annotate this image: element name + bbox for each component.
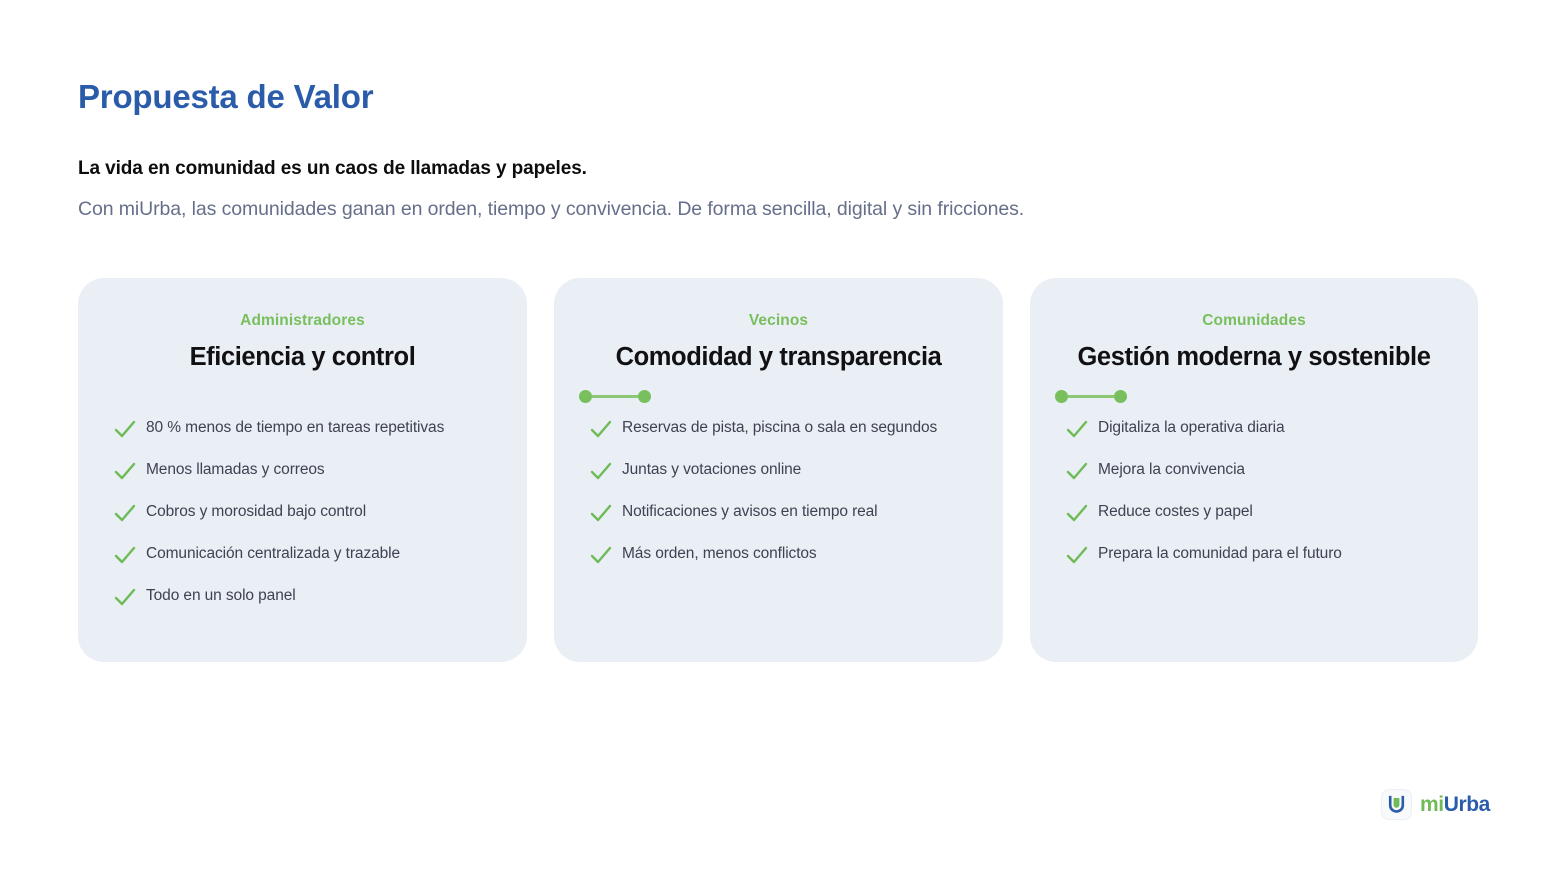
list-item-label: Comunicación centralizada y trazable: [146, 544, 400, 564]
check-icon: [114, 545, 136, 565]
card-eyebrow: Comunidades: [1054, 310, 1454, 332]
page-title: Propuesta de Valor: [78, 76, 373, 118]
logo-text-urba: Urba: [1444, 793, 1490, 816]
check-icon: [114, 503, 136, 523]
card-comunidades: Comunidades Gestión moderna y sostenible…: [1030, 278, 1478, 662]
list-item-label: Cobros y morosidad bajo control: [146, 502, 366, 522]
check-icon: [590, 419, 612, 439]
card-benefit-list: Reservas de pista, piscina o sala en seg…: [578, 418, 979, 564]
miurba-wordmark: miUrba: [1420, 793, 1490, 817]
list-item: Digitaliza la operativa diaria: [1054, 418, 1454, 438]
connector-dot-right: [638, 390, 651, 403]
list-item: Reservas de pista, piscina o sala en seg…: [578, 418, 979, 438]
card-benefit-list: Digitaliza la operativa diaria Mejora la…: [1054, 418, 1454, 564]
check-icon: [590, 545, 612, 565]
connector-dot-right: [1114, 390, 1127, 403]
list-item: Todo en un solo panel: [102, 586, 503, 606]
list-item: Comunicación centralizada y trazable: [102, 544, 503, 564]
check-icon: [114, 587, 136, 607]
list-item-label: Mejora la convivencia: [1098, 460, 1245, 480]
miurba-logo: miUrba: [1381, 789, 1490, 820]
check-icon: [114, 419, 136, 439]
list-item-label: Digitaliza la operativa diaria: [1098, 418, 1285, 438]
check-icon: [1066, 419, 1088, 439]
list-item: Notificaciones y avisos en tiempo real: [578, 502, 979, 522]
connector-line: [1068, 395, 1114, 398]
list-item-label: Prepara la comunidad para el futuro: [1098, 544, 1342, 564]
card-benefit-list: 80 % menos de tiempo en tareas repetitiv…: [102, 418, 503, 606]
check-icon: [590, 503, 612, 523]
list-item-label: Reservas de pista, piscina o sala en seg…: [622, 418, 937, 438]
list-item: Mejora la convivencia: [1054, 460, 1454, 480]
check-icon: [1066, 545, 1088, 565]
connector-line: [592, 395, 638, 398]
miurba-u-icon: [1381, 789, 1412, 820]
connector-vecinos-comunidades: [1055, 390, 1127, 403]
lead-headline: La vida en comunidad es un caos de llama…: [78, 155, 587, 183]
card-title: Eficiencia y control: [102, 340, 503, 374]
check-icon: [1066, 461, 1088, 481]
list-item: Prepara la comunidad para el futuro: [1054, 544, 1454, 564]
connector-dot-left: [1055, 390, 1068, 403]
list-item: Juntas y votaciones online: [578, 460, 979, 480]
list-item-label: Juntas y votaciones online: [622, 460, 801, 480]
card-eyebrow: Vecinos: [578, 310, 979, 332]
card-administradores: Administradores Eficiencia y control 80 …: [78, 278, 527, 662]
list-item: Reduce costes y papel: [1054, 502, 1454, 522]
list-item-label: Reduce costes y papel: [1098, 502, 1253, 522]
check-icon: [590, 461, 612, 481]
list-item-label: Todo en un solo panel: [146, 586, 296, 606]
list-item: Cobros y morosidad bajo control: [102, 502, 503, 522]
connector-dot-left: [579, 390, 592, 403]
card-title: Comodidad y transparencia: [578, 340, 979, 374]
card-vecinos: Vecinos Comodidad y transparencia Reserv…: [554, 278, 1003, 662]
check-icon: [1066, 503, 1088, 523]
list-item-label: Notificaciones y avisos en tiempo real: [622, 502, 878, 522]
card-eyebrow: Administradores: [102, 310, 503, 332]
logo-text-mi: mi: [1420, 793, 1444, 816]
list-item-label: 80 % menos de tiempo en tareas repetitiv…: [146, 418, 444, 438]
list-item: Menos llamadas y correos: [102, 460, 503, 480]
connector-administradores-vecinos: [579, 390, 651, 403]
card-title: Gestión moderna y sostenible: [1054, 340, 1454, 374]
list-item-label: Menos llamadas y correos: [146, 460, 325, 480]
check-icon: [114, 461, 136, 481]
list-item: Más orden, menos conflictos: [578, 544, 979, 564]
list-item: 80 % menos de tiempo en tareas repetitiv…: [102, 418, 503, 438]
lead-subtext: Con miUrba, las comunidades ganan en ord…: [78, 195, 1024, 223]
list-item-label: Más orden, menos conflictos: [622, 544, 817, 564]
value-proposition-cards: Administradores Eficiencia y control 80 …: [78, 278, 1478, 662]
